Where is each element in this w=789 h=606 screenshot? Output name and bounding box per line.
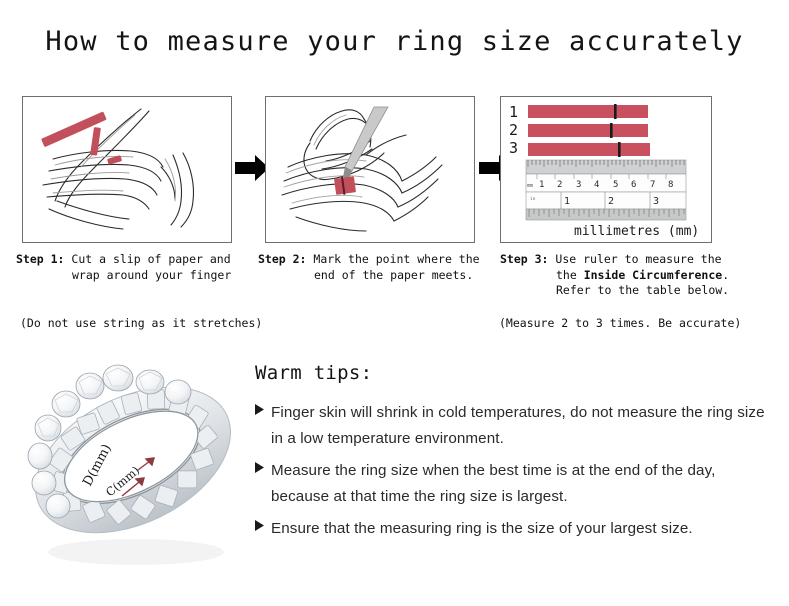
step-3-line-2-prefix: the xyxy=(556,268,584,282)
svg-text:mm: mm xyxy=(527,183,533,189)
step-1-line-1: Cut a slip of paper and xyxy=(71,252,230,266)
step-1-caption: Step 1: Cut a slip of paper and wrap aro… xyxy=(16,252,251,283)
ruler-shape: 12 34 56 78 mm 12 3 xyxy=(526,160,686,220)
step-2-label: Step 2: xyxy=(258,252,306,266)
ring-diagram: D(mm) C(mm) xyxy=(18,352,248,577)
triangle-right-bullet-icon xyxy=(255,516,271,531)
hand-marking-paper-icon xyxy=(266,97,474,242)
measured-strips xyxy=(528,104,650,157)
warm-tip-item: Ensure that the measuring ring is the si… xyxy=(255,516,775,542)
ruler-unit-caption: millimetres (mm) xyxy=(574,224,699,239)
triangle-right-bullet-icon xyxy=(255,458,271,473)
strip-number-3: 3 xyxy=(509,139,518,157)
svg-text:1: 1 xyxy=(564,196,570,207)
svg-text:5: 5 xyxy=(613,180,618,190)
step-2-caption: Step 2: Mark the point where the end of … xyxy=(258,252,493,283)
warm-tip-text: Measure the ring size when the best time… xyxy=(271,458,775,510)
warm-tip-item: Measure the ring size when the best time… xyxy=(255,458,775,510)
step-3-illustration-panel: 1 2 3 xyxy=(500,96,712,243)
step-3-line-1: Use ruler to measure the xyxy=(555,252,721,266)
ring-size-guide-page: How to measure your ring size accurately xyxy=(0,0,789,606)
svg-text:6: 6 xyxy=(631,180,636,190)
step-3-inside-circumference: Inside Circumference xyxy=(584,268,722,282)
svg-text:4: 4 xyxy=(594,180,599,190)
step-1-label: Step 1: xyxy=(16,252,64,266)
warm-tips-heading: Warm tips: xyxy=(255,362,775,384)
step-1-illustration-panel xyxy=(22,96,232,243)
strip-number-1: 1 xyxy=(509,103,518,121)
strip-number-2: 2 xyxy=(509,121,518,139)
svg-text:3: 3 xyxy=(576,180,581,190)
step-3-caption: Step 3: Use ruler to measure the the Ins… xyxy=(500,252,750,299)
svg-text:8: 8 xyxy=(668,180,673,190)
svg-text:2: 2 xyxy=(557,180,562,190)
page-title: How to measure your ring size accurately xyxy=(0,26,789,57)
step-3-line-3: Refer to the table below. xyxy=(500,283,750,299)
marked-paper-strip-shape xyxy=(334,176,356,195)
step-1-note: (Do not use string as it stretches) xyxy=(20,316,262,330)
step-2-illustration-panel xyxy=(265,96,475,243)
steps-illustration-row: 1 2 3 xyxy=(0,96,789,244)
pen-shape xyxy=(343,107,388,181)
diamond-eternity-ring-icon: D(mm) C(mm) xyxy=(18,352,248,577)
warm-tip-text: Ensure that the measuring ring is the si… xyxy=(271,516,693,542)
step-3-note: (Measure 2 to 3 times. Be accurate) xyxy=(499,316,741,330)
ruler-and-strips-icon: 1 2 3 xyxy=(501,97,711,242)
step-1-line-2: wrap around your finger xyxy=(16,268,251,284)
step-3-label: Step 3: xyxy=(500,252,548,266)
warm-tip-item: Finger skin will shrink in cold temperat… xyxy=(255,400,775,452)
svg-text:7: 7 xyxy=(650,180,655,190)
svg-text:1: 1 xyxy=(539,180,544,190)
step-2-line-2: end of the paper meets. xyxy=(258,268,493,284)
warm-tip-text: Finger skin will shrink in cold temperat… xyxy=(271,400,775,452)
hand-with-paper-strip-icon xyxy=(23,97,231,242)
svg-text:3: 3 xyxy=(653,196,659,207)
warm-tips-section: Warm tips: Finger skin will shrink in co… xyxy=(255,362,775,548)
step-3-line-2-suffix: . xyxy=(722,268,729,282)
svg-text:in: in xyxy=(530,196,536,202)
step-2-line-1: Mark the point where the xyxy=(313,252,479,266)
triangle-right-bullet-icon xyxy=(255,400,271,415)
svg-text:2: 2 xyxy=(608,196,614,207)
